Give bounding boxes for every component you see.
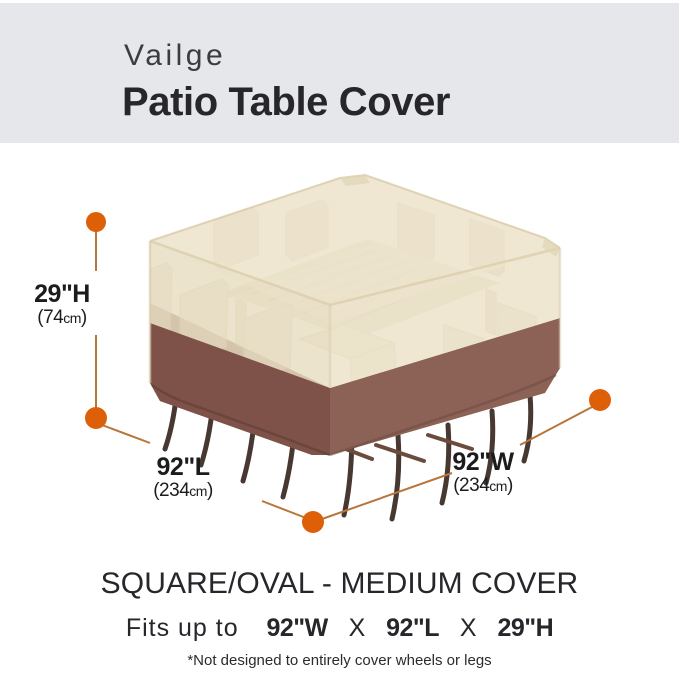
fits-width-value: 92"W [266,614,327,642]
dimension-label-length: 92"L (234cm) [108,455,258,500]
dimension-length-value: 92"L [108,455,258,481]
brand-name: Vailge [124,41,226,71]
product-illustration [0,143,679,555]
dimension-dot-icon [589,389,611,411]
fits-length-value: 92"L [386,614,439,642]
dimension-width-value: 92"W [408,450,558,476]
disclaimer-text: *Not designed to entirely cover wheels o… [0,652,679,669]
dimension-label-height: 29"H (74cm) [14,282,110,327]
fits-up-to-line: Fits up to 92"W X 92"L X 29"H [0,614,679,643]
dimension-dot-icon [85,407,107,429]
dimension-dot-icon [86,212,106,232]
fits-separator-1: X [349,614,366,642]
dimension-length-metric: (234cm) [108,481,258,500]
header-banner: Vailge Patio Table Cover [0,3,679,143]
dimension-height-metric: (74cm) [14,308,110,327]
dimension-height-value: 29"H [14,282,110,308]
dimension-label-width: 92"W (234cm) [408,450,558,495]
cover-type-heading: SQUARE/OVAL - MEDIUM COVER [0,567,679,601]
fits-lead-text: Fits up to [126,614,239,642]
fits-separator-2: X [460,614,477,642]
fits-height-value: 29"H [497,614,553,642]
dimension-width-metric: (234cm) [408,476,558,495]
dimension-dot-icon [302,511,324,533]
page-title: Patio Table Cover [122,82,450,122]
patio-cover-diagram [0,143,679,555]
